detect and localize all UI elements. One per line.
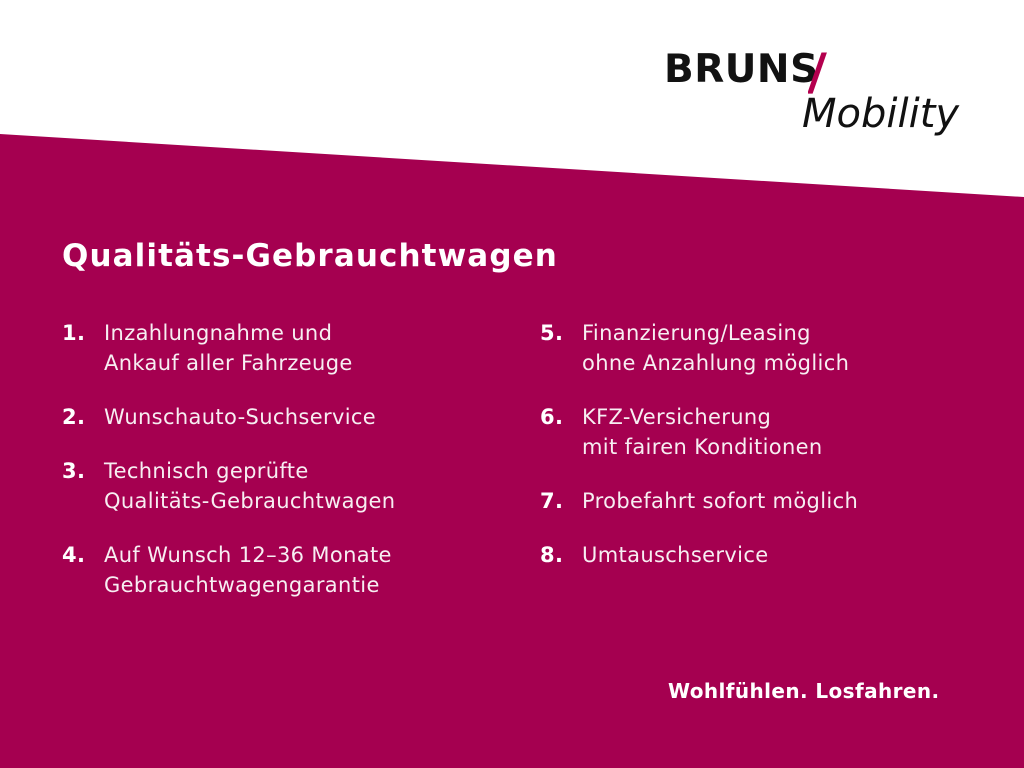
logo-subtitle: Mobility <box>802 94 959 134</box>
list-item: 4. Auf Wunsch 12–36 Monate Gebrauchtwage… <box>62 540 502 600</box>
list-item-number: 5. <box>540 318 582 348</box>
list-item-number: 6. <box>540 402 582 432</box>
list-item-line-2: Gebrauchtwagengarantie <box>104 570 502 600</box>
list-item-text: Inzahlungnahme und Ankauf aller Fahrzeug… <box>104 318 502 378</box>
list-item: 2. Wunschauto-Suchservice <box>62 402 502 432</box>
logo-wordmark: BRUNS <box>664 50 819 89</box>
list-item-text: Wunschauto-Suchservice <box>104 402 502 432</box>
feature-column-left: 1. Inzahlungnahme und Ankauf aller Fahrz… <box>62 318 502 624</box>
list-item-number: 2. <box>62 402 104 432</box>
list-item-number: 8. <box>540 540 582 570</box>
logo-slash-glyph: / <box>808 47 827 97</box>
list-item-line-1: Wunschauto-Suchservice <box>104 405 376 429</box>
list-item: 5. Finanzierung/Leasing ohne Anzahlung m… <box>540 318 980 378</box>
list-item-text: Technisch geprüfte Qualitäts-Gebrauchtwa… <box>104 456 502 516</box>
brand-logo: BRUNS / Mobility <box>660 50 980 160</box>
list-item-text: Umtauschservice <box>582 540 980 570</box>
feature-column-right: 5. Finanzierung/Leasing ohne Anzahlung m… <box>540 318 980 594</box>
list-item-text: Probefahrt sofort möglich <box>582 486 980 516</box>
list-item-text: KFZ-Versicherung mit fairen Konditionen <box>582 402 980 462</box>
list-item: 7. Probefahrt sofort möglich <box>540 486 980 516</box>
list-item: 1. Inzahlungnahme und Ankauf aller Fahrz… <box>62 318 502 378</box>
list-item-line-1: Umtauschservice <box>582 543 769 567</box>
list-item-line-1: Auf Wunsch 12–36 Monate <box>104 543 392 567</box>
list-item: 3. Technisch geprüfte Qualitäts-Gebrauch… <box>62 456 502 516</box>
list-item-line-2: mit fairen Konditionen <box>582 432 980 462</box>
list-item: 8. Umtauschservice <box>540 540 980 570</box>
list-item-line-1: Finanzierung/Leasing <box>582 321 811 345</box>
list-item-line-1: Inzahlungnahme und <box>104 321 332 345</box>
slide-root: BRUNS / Mobility Qualitäts-Gebrauchtwage… <box>0 0 1024 768</box>
list-item-line-1: Probefahrt sofort möglich <box>582 489 858 513</box>
page-title: Qualitäts-Gebrauchtwagen <box>62 238 558 274</box>
list-item-line-2: Ankauf aller Fahrzeuge <box>104 348 502 378</box>
list-item-number: 7. <box>540 486 582 516</box>
brand-tagline: Wohlfühlen. Losfahren. <box>668 679 939 703</box>
list-item-number: 1. <box>62 318 104 348</box>
list-item-line-1: KFZ-Versicherung <box>582 405 771 429</box>
list-item: 6. KFZ-Versicherung mit fairen Kondition… <box>540 402 980 462</box>
list-item-line-2: ohne Anzahlung möglich <box>582 348 980 378</box>
list-item-text: Auf Wunsch 12–36 Monate Gebrauchtwagenga… <box>104 540 502 600</box>
list-item-number: 4. <box>62 540 104 570</box>
list-item-line-1: Technisch geprüfte <box>104 459 309 483</box>
list-item-text: Finanzierung/Leasing ohne Anzahlung mögl… <box>582 318 980 378</box>
list-item-number: 3. <box>62 456 104 486</box>
list-item-line-2: Qualitäts-Gebrauchtwagen <box>104 486 502 516</box>
